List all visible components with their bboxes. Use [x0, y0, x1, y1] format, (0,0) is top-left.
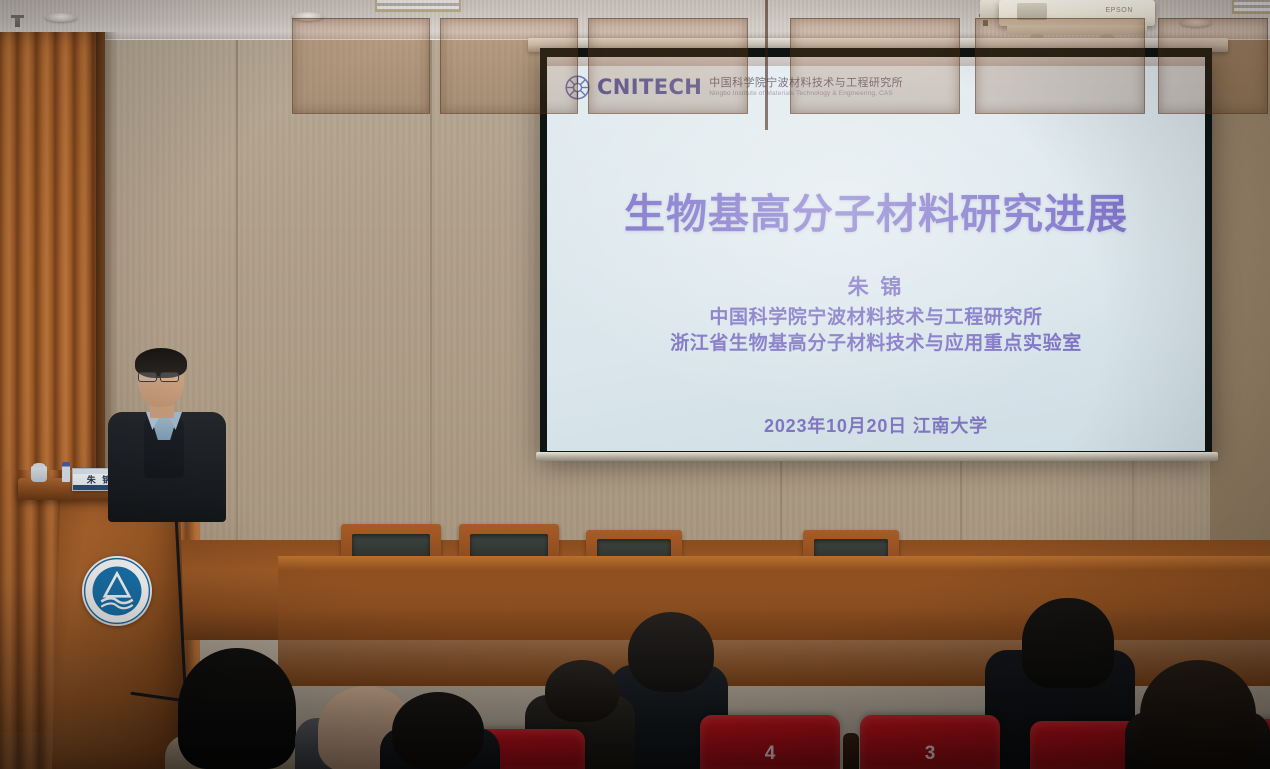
dais-panel [292, 18, 430, 114]
mug-icon [31, 466, 47, 482]
slide-author: 朱 锦 [547, 271, 1205, 301]
projector-brand-label: EPSON [1105, 7, 1133, 14]
right-side-wall [1210, 40, 1270, 560]
projection-screen-weight-bar [536, 452, 1218, 461]
attendee-head [178, 648, 296, 769]
water-bottle-icon [62, 462, 70, 482]
audience-seat[interactable]: 3 [860, 715, 1000, 769]
speaker-person [108, 348, 226, 518]
ceiling-hook-icon [15, 15, 20, 27]
dais-panel [975, 18, 1145, 114]
attendee-head [392, 692, 484, 769]
slide-affiliation-2: 浙江省生物基高分子材料技术与应用重点实验室 [547, 328, 1205, 355]
seat-number: 3 [860, 743, 1000, 765]
dais-panel [588, 18, 748, 114]
audience-seat[interactable]: 4 [700, 715, 840, 769]
dais-panel [790, 18, 960, 114]
seat-number: 4 [700, 743, 840, 765]
dais-panel [1158, 18, 1268, 114]
wall-seam [236, 40, 238, 540]
slide-title: 生物基高分子材料研究进展 [547, 180, 1205, 240]
jiangnan-university-seal-icon [82, 556, 152, 626]
seat-armrest [843, 733, 859, 769]
screen-glare [547, 57, 1205, 451]
eyeglasses-bridge [157, 376, 161, 378]
slide-surface: CNITECH 中国科学院宁波材料技术与工程研究所 Ningbo Institu… [547, 57, 1205, 451]
downlight-icon [45, 13, 77, 22]
air-vent-icon [1232, 0, 1270, 14]
slide-affiliation-1: 中国科学院宁波材料技术与工程研究所 [547, 302, 1205, 329]
attendee-head [1022, 598, 1114, 688]
air-vent-icon [375, 0, 461, 12]
eyeglasses-icon [160, 372, 179, 382]
lecture-hall-scene: EPSON [0, 0, 1270, 769]
dais-panel [440, 18, 578, 114]
wall-seam [430, 40, 432, 540]
eyeglasses-icon [138, 372, 157, 382]
dais-top-surface [278, 556, 1270, 571]
slide-date-venue: 2023年10月20日 江南大学 [547, 412, 1205, 438]
attendee-head [1140, 660, 1256, 769]
dais-split [765, 0, 768, 130]
